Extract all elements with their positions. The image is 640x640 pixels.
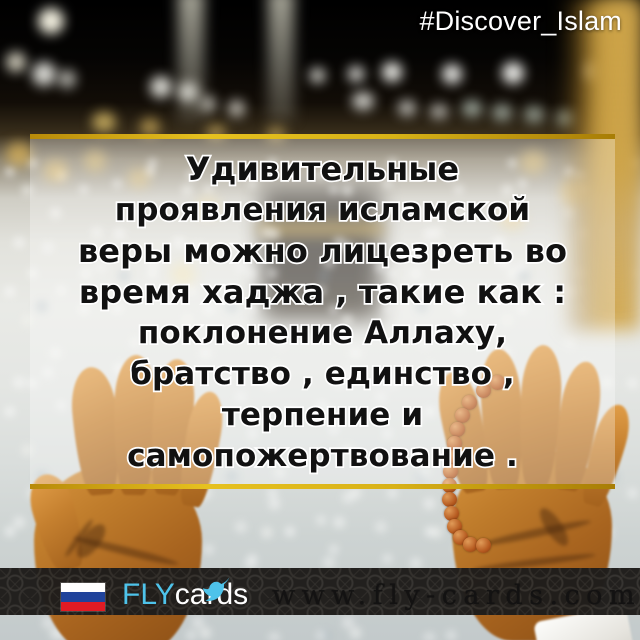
hashtag-label: #Discover_Islam (419, 6, 622, 37)
quote-line: веры можно лицезреть во (78, 231, 567, 272)
website-url[interactable]: www.fly-cards.com (272, 580, 640, 611)
flag-stripe-red (61, 602, 105, 611)
bokeh-light (38, 8, 64, 34)
quote-line: самопожертвование . (127, 436, 518, 477)
quote-line: проявления исламской (115, 190, 531, 231)
divider-top (30, 134, 615, 139)
flag-stripe-white (61, 583, 105, 592)
bokeh-light (150, 76, 172, 98)
bokeh-light (310, 68, 325, 83)
bokeh-light (92, 112, 116, 132)
quote-line: время хаджа , такие как : (79, 272, 566, 313)
bokeh-light (382, 62, 402, 82)
bokeh-light (398, 100, 416, 116)
bokeh-light (178, 82, 198, 102)
bokeh-light (352, 92, 374, 110)
bokeh-light (502, 62, 524, 84)
bokeh-light (6, 142, 32, 166)
brand-logo-primary: FLY (122, 578, 175, 611)
bokeh-light (228, 100, 245, 117)
bokeh-light (58, 70, 76, 88)
russia-flag-icon (60, 582, 106, 612)
quote-line: поклонение Аллаху, (138, 313, 507, 354)
discover-islam-card: #Discover_Islam Удивительные проявления … (0, 0, 640, 640)
flag-stripe-blue (61, 592, 105, 601)
quote-line: терпение и (222, 395, 423, 436)
bokeh-light (524, 106, 544, 123)
bokeh-light (32, 62, 56, 86)
bokeh-light (348, 66, 364, 82)
bokeh-light (200, 96, 216, 112)
bokeh-light (442, 64, 462, 84)
bird-icon (202, 576, 232, 602)
bokeh-light (430, 104, 448, 119)
bokeh-light (462, 100, 482, 117)
bokeh-light (6, 52, 26, 72)
minaret-right (268, 0, 294, 120)
quote-line: братство , единство , (130, 354, 514, 395)
quote-text-block: Удивительные проявления исламской веры м… (30, 140, 615, 485)
quote-line: Удивительные (186, 149, 459, 190)
bokeh-light (492, 104, 512, 121)
